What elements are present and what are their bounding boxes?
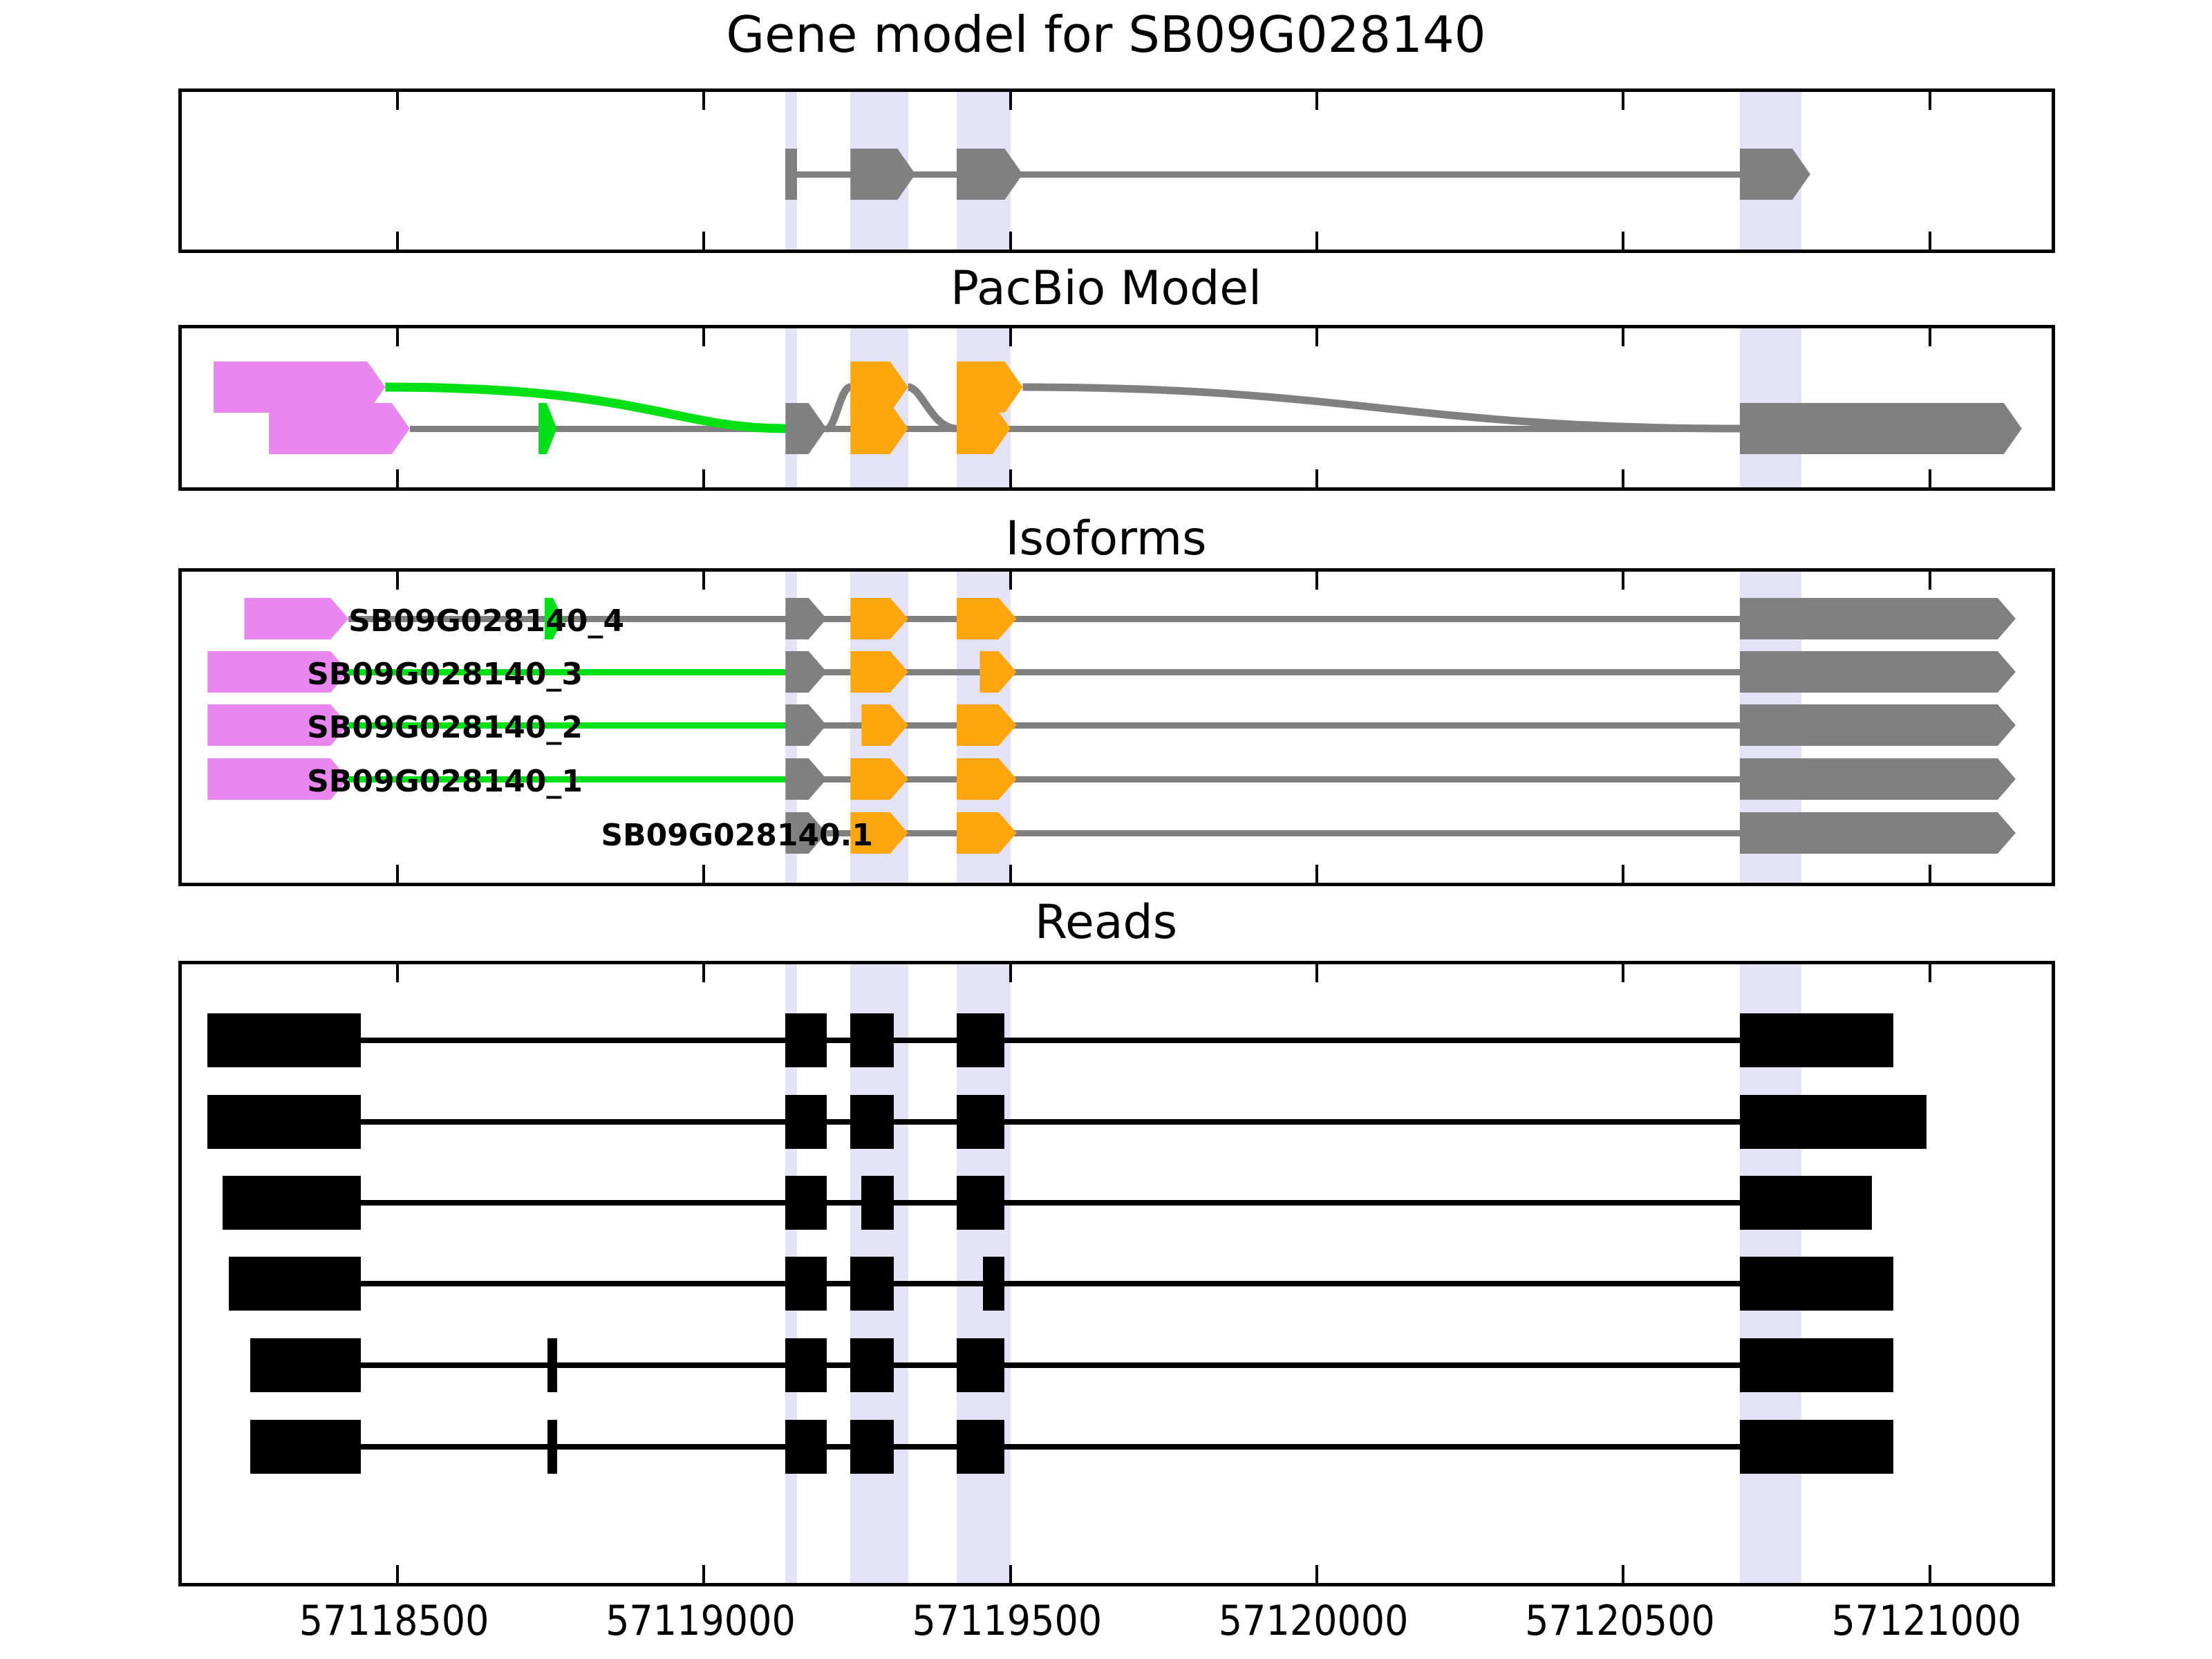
exon-block (1740, 1176, 1872, 1230)
exon-block (1740, 758, 2016, 800)
exon-block (785, 403, 826, 454)
axis-tick (1009, 232, 1012, 250)
exon-block (785, 598, 826, 639)
axis-tick (396, 1565, 399, 1583)
isoform-label-2: SB09G028140_3 (307, 657, 583, 692)
intron-line (563, 616, 1740, 622)
axis-tick (1622, 328, 1624, 346)
axis-tick (1315, 865, 1318, 883)
isoform-label-1: SB09G028140_4 (348, 603, 624, 639)
intron-line (361, 1038, 1740, 1043)
exon-block (785, 1257, 826, 1311)
exon-block (957, 149, 1023, 200)
x-tick-label: 57119000 (606, 1597, 796, 1645)
x-tick-label: 57120500 (1525, 1597, 1715, 1645)
isoforms-plot: SB09G028140_4SB09G028140_3SB09G028140_2S… (182, 572, 2052, 883)
exon-block (1740, 704, 2016, 746)
axis-tick (1315, 92, 1318, 110)
exon-block (1740, 651, 2016, 693)
exon-block (785, 704, 826, 746)
gene-model-plot (182, 92, 2052, 250)
isoforms-title: Isoforms (0, 512, 2212, 566)
axis-tick (1622, 469, 1624, 487)
splice-curve (385, 387, 785, 429)
exon-block (1740, 1013, 1893, 1067)
exon-block (244, 598, 348, 639)
splice-curve (1023, 387, 1740, 429)
x-tick-label: 57120000 (1219, 1597, 1409, 1645)
axis-tick (702, 964, 705, 982)
axis-tick (1315, 232, 1318, 250)
axis-tick (396, 865, 399, 883)
axis-tick (1315, 1565, 1318, 1583)
exon-block (250, 1338, 361, 1392)
exon-block (1740, 1420, 1893, 1474)
pacbio-model-title: PacBio Model (0, 261, 2212, 316)
exon-block (207, 1013, 361, 1067)
axis-tick (1622, 232, 1624, 250)
exon-block (1740, 812, 2016, 854)
axis-tick (396, 469, 399, 487)
isoform-label-5: SB09G028140.1 (601, 818, 873, 853)
intron-line (785, 722, 1740, 729)
axis-tick (396, 964, 399, 982)
pacbio-model-panel (178, 325, 2055, 491)
axis-tick (1009, 964, 1012, 982)
exon-block (957, 1420, 1004, 1474)
exon-block (957, 1013, 1004, 1067)
axis-tick (1929, 328, 1931, 346)
axis-tick (396, 92, 399, 110)
axis-tick (1929, 92, 1931, 110)
intron-line (785, 776, 1740, 782)
axis-tick (702, 328, 705, 346)
exon-block (850, 1095, 894, 1149)
exon-block (785, 1420, 826, 1474)
exon-block (850, 1013, 894, 1067)
exon-block (785, 1095, 826, 1149)
axis-tick (702, 1565, 705, 1583)
x-tick-label: 57121000 (1831, 1597, 2021, 1645)
intron-line (361, 1281, 1740, 1286)
exon-block (957, 1095, 1004, 1149)
axis-tick (702, 572, 705, 590)
exon-block (850, 1420, 894, 1474)
axis-tick (1929, 865, 1931, 883)
exon-block (223, 1176, 361, 1230)
axis-tick (702, 469, 705, 487)
isoform-label-4: SB09G028140_1 (307, 764, 583, 799)
intron-line (797, 171, 1740, 178)
axis-tick (1009, 92, 1012, 110)
exon-block (538, 403, 557, 454)
exon-block (957, 1176, 1004, 1230)
exon-block (1740, 1257, 1893, 1311)
exon-block (785, 1176, 826, 1230)
reads-title: Reads (0, 895, 2212, 950)
x-tick-label: 57119500 (912, 1597, 1102, 1645)
axis-tick (1315, 572, 1318, 590)
exon-block (785, 1338, 826, 1392)
axis-tick (1009, 469, 1012, 487)
axis-tick (396, 328, 399, 346)
exon-block (250, 1420, 361, 1474)
intron-line (361, 1444, 1740, 1450)
exon-block (229, 1257, 361, 1311)
exon-block (1740, 598, 2016, 639)
exon-block (547, 1420, 556, 1474)
exon-block (785, 758, 826, 800)
reads-panel (178, 961, 2055, 1586)
intron-line (410, 426, 1740, 432)
axis-tick (396, 572, 399, 590)
axis-tick (1929, 1565, 1931, 1583)
exon-block (980, 651, 1016, 693)
axis-tick (1009, 572, 1012, 590)
axis-tick (1929, 572, 1931, 590)
exon-block (850, 1338, 894, 1392)
exon-block (785, 1013, 826, 1067)
exon-block (1740, 403, 2022, 454)
isoforms-panel: SB09G028140_4SB09G028140_3SB09G028140_2S… (178, 568, 2055, 886)
exon-block (850, 1257, 894, 1311)
intron-line (785, 669, 1740, 675)
axis-tick (702, 865, 705, 883)
exon-block (1740, 1338, 1893, 1392)
exon-block (957, 1338, 1004, 1392)
axis-tick (1009, 328, 1012, 346)
exon-block (269, 403, 410, 454)
pacbio-model-plot (182, 328, 2052, 487)
axis-tick (396, 232, 399, 250)
axis-tick (1315, 469, 1318, 487)
gene-model-panel (178, 88, 2055, 253)
axis-tick (1622, 92, 1624, 110)
exon-block (1740, 1095, 1927, 1149)
axis-tick (1315, 964, 1318, 982)
axis-tick (1622, 1565, 1624, 1583)
axis-tick (1929, 469, 1931, 487)
exon-block (785, 149, 797, 200)
intron-line (361, 1200, 1740, 1206)
axis-tick (1929, 232, 1931, 250)
gene-model-title: Gene model for SB09G028140 (0, 6, 2212, 64)
axis-tick (1622, 865, 1624, 883)
axis-tick (1622, 572, 1624, 590)
exon-block (207, 1095, 361, 1149)
axis-tick (1009, 1565, 1012, 1583)
exon-block (785, 651, 826, 693)
intron-line (361, 1119, 1740, 1125)
axis-tick (1622, 964, 1624, 982)
axis-tick (1929, 964, 1931, 982)
axis-tick (702, 92, 705, 110)
axis-tick (702, 232, 705, 250)
splice-curve (827, 387, 851, 429)
exon-block (547, 1338, 556, 1392)
exon-block (983, 1257, 1004, 1311)
axis-tick (1315, 328, 1318, 346)
x-tick-label: 57118500 (299, 1597, 489, 1645)
isoform-label-3: SB09G028140_2 (307, 710, 583, 745)
reads-plot (182, 964, 2052, 1583)
exon-block (861, 1176, 894, 1230)
intron-line (361, 1362, 1740, 1368)
axis-tick (1009, 865, 1012, 883)
splice-curve (908, 387, 957, 429)
